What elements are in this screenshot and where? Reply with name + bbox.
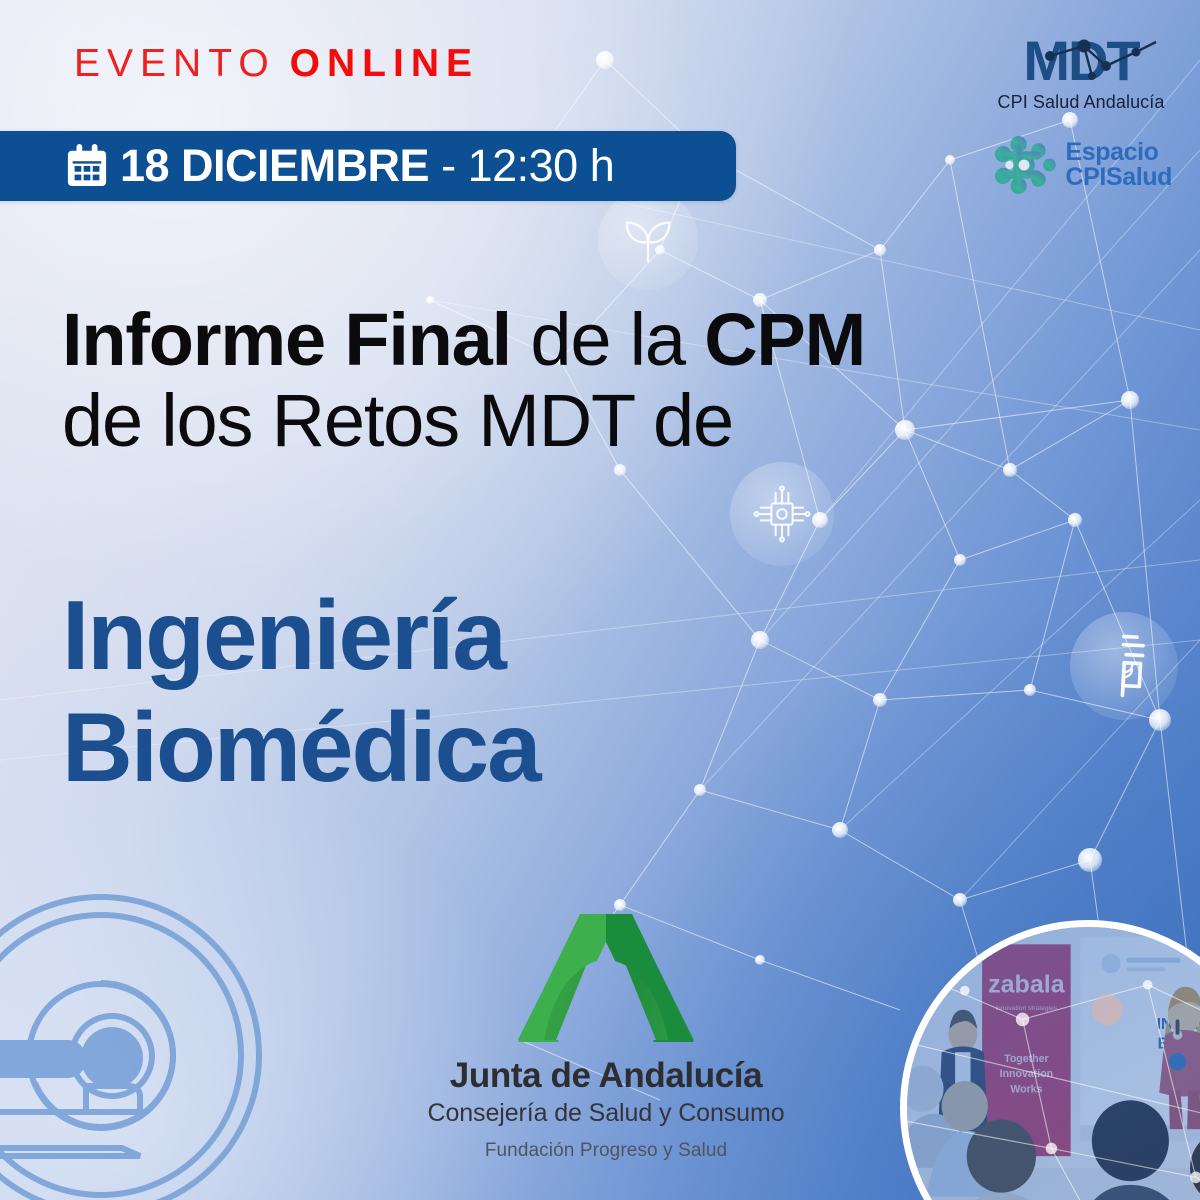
- molecule-cluster-icon: [991, 136, 1057, 194]
- junta-department: Consejería de Salud y Consumo: [408, 1099, 804, 1128]
- svg-text:innovation strategies: innovation strategies: [996, 1005, 1058, 1012]
- subject-line-1: Ingeniería: [62, 580, 540, 692]
- page-title: Informe Final de la CPM de los Retos MDT…: [62, 300, 1072, 461]
- title-cpm: CPM: [704, 298, 865, 381]
- title-line-1: Informe Final de la CPM: [62, 300, 1072, 381]
- event-kicker: EVENTOONLINE: [74, 44, 479, 83]
- mri-scanner-icon: [0, 890, 266, 1200]
- mdt-wordmark-wrap: MDT: [988, 32, 1174, 90]
- date-separator: -: [429, 140, 468, 191]
- kicker-online: ONLINE: [290, 42, 479, 85]
- event-poster: EVENTOONLINE 18 DICIEMBRE - 12:30 h: [0, 0, 1200, 1200]
- mdt-logo[interactable]: MDT CPI Salud Andalucía: [988, 32, 1174, 113]
- espacio-line2: CPISalud: [1065, 165, 1172, 191]
- espacio-wordmark: Espacio CPISalud: [1065, 140, 1172, 191]
- title-line-2: de los Retos MDT de: [62, 381, 1072, 462]
- svg-text:Together: Together: [1004, 1053, 1048, 1065]
- svg-text:Works: Works: [1010, 1084, 1042, 1096]
- event-photo: zabala innovation strategies Together In…: [900, 920, 1200, 1200]
- junta-name: Junta de Andalucía: [408, 1056, 804, 1096]
- calendar-icon: [66, 144, 108, 188]
- event-photo-illustration: zabala innovation strategies Together In…: [907, 927, 1200, 1200]
- date-time-text: 18 DICIEMBRE - 12:30 h: [120, 143, 614, 188]
- junta-de-andalucia-logo[interactable]: Junta de Andalucía Consejería de Salud y…: [408, 912, 804, 1162]
- kicker-evento: EVENTO: [74, 42, 276, 85]
- subject-line-2: Biomédica: [62, 692, 540, 804]
- andalucia-a-icon: [408, 912, 804, 1044]
- microchip-icon: [730, 462, 834, 566]
- espacio-line1: Espacio: [1065, 140, 1172, 166]
- date-time: 12:30 h: [468, 140, 615, 191]
- network-nodes-icon: [988, 32, 1174, 90]
- svg-text:Innovation: Innovation: [1000, 1068, 1053, 1080]
- subject-heading: Ingeniería Biomédica: [62, 580, 540, 803]
- title-de-la: de la: [511, 298, 704, 381]
- mdt-subtitle: CPI Salud Andalucía: [988, 92, 1174, 113]
- leaf-icon: [598, 190, 698, 290]
- date-day-month: 18 DICIEMBRE: [120, 140, 429, 191]
- syringe-dna-icon: [1070, 612, 1178, 720]
- date-time-badge: 18 DICIEMBRE - 12:30 h: [0, 131, 736, 201]
- espacio-cpisalud-logo[interactable]: Espacio CPISalud: [991, 136, 1172, 194]
- svg-text:zabala: zabala: [988, 970, 1066, 998]
- junta-foundation: Fundación Progreso y Salud: [408, 1140, 804, 1162]
- title-informe-final: Informe Final: [62, 298, 511, 381]
